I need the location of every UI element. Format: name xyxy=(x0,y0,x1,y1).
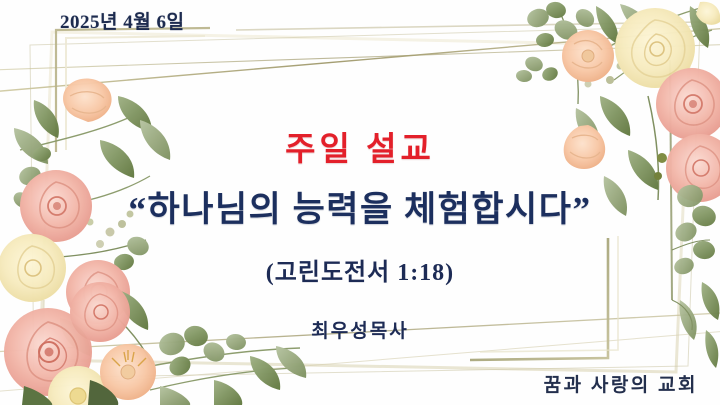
church-name: 꿈과 사랑의 교회 xyxy=(544,370,698,397)
sermon-date: 2025년 4월 6일 xyxy=(60,7,184,34)
scripture-reference: (고린도전서 1:18) xyxy=(0,252,720,287)
sermon-slide: 2025년 4월 6일 주일 설교 “하나님의 능력을 체험합시다” (고린도전… xyxy=(0,0,720,405)
sermon-kicker-label: 주일 설교 xyxy=(0,122,720,170)
sermon-title: “하나님의 능력을 체험합시다” xyxy=(0,181,720,232)
preacher-name: 최우성목사 xyxy=(0,316,720,343)
